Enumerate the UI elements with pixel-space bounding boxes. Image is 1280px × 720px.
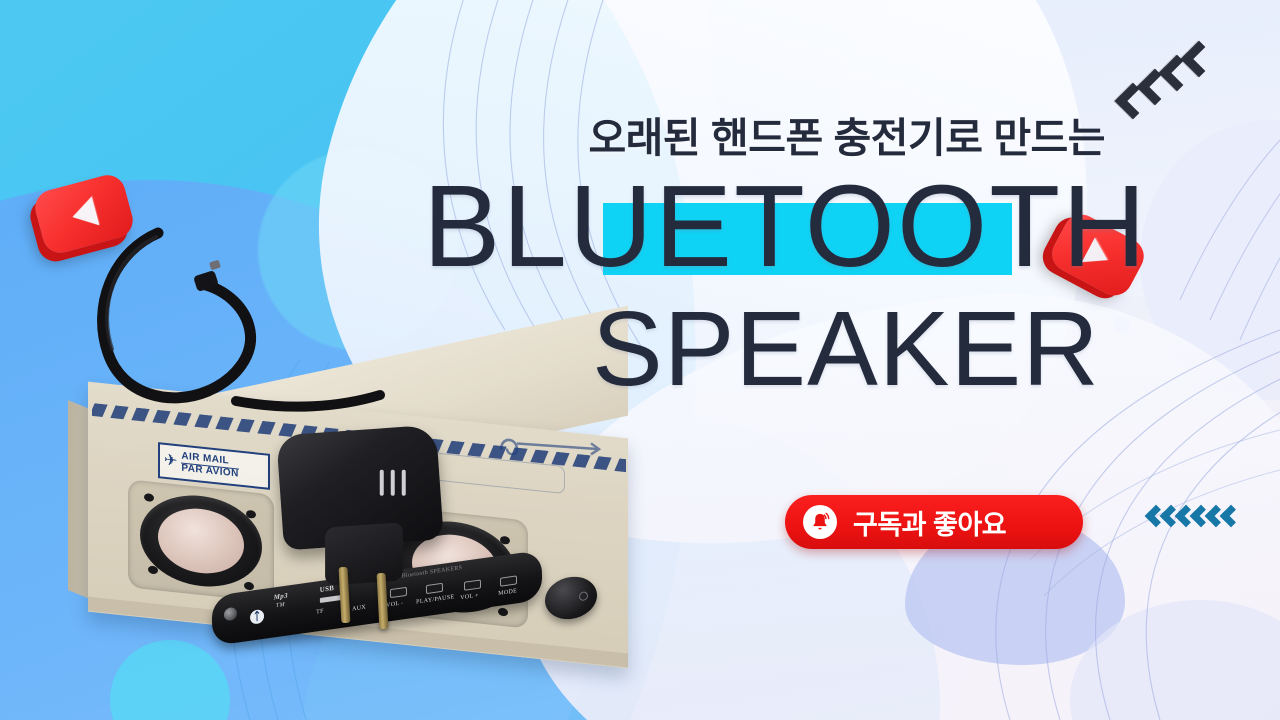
subscribe-button[interactable]: 구독과 좋아요 [785, 495, 1083, 549]
chevron-group-blue [1148, 508, 1244, 534]
youtube-thumbnail: ✈ AIR MAIL PAR AVION [0, 0, 1280, 720]
chevron-group-dark [1120, 40, 1230, 120]
chevron-left-icon [1220, 505, 1243, 528]
product-image: ✈ AIR MAIL PAR AVION [40, 195, 660, 675]
play-triangle-icon [69, 196, 100, 231]
adapter-vents [380, 470, 406, 496]
play-triangle-icon [1082, 237, 1115, 272]
bell-icon[interactable] [803, 505, 837, 539]
subscribe-label: 구독과 좋아요 [853, 503, 1006, 542]
adapter-neck [325, 522, 403, 586]
decorative-dot [1114, 317, 1130, 333]
